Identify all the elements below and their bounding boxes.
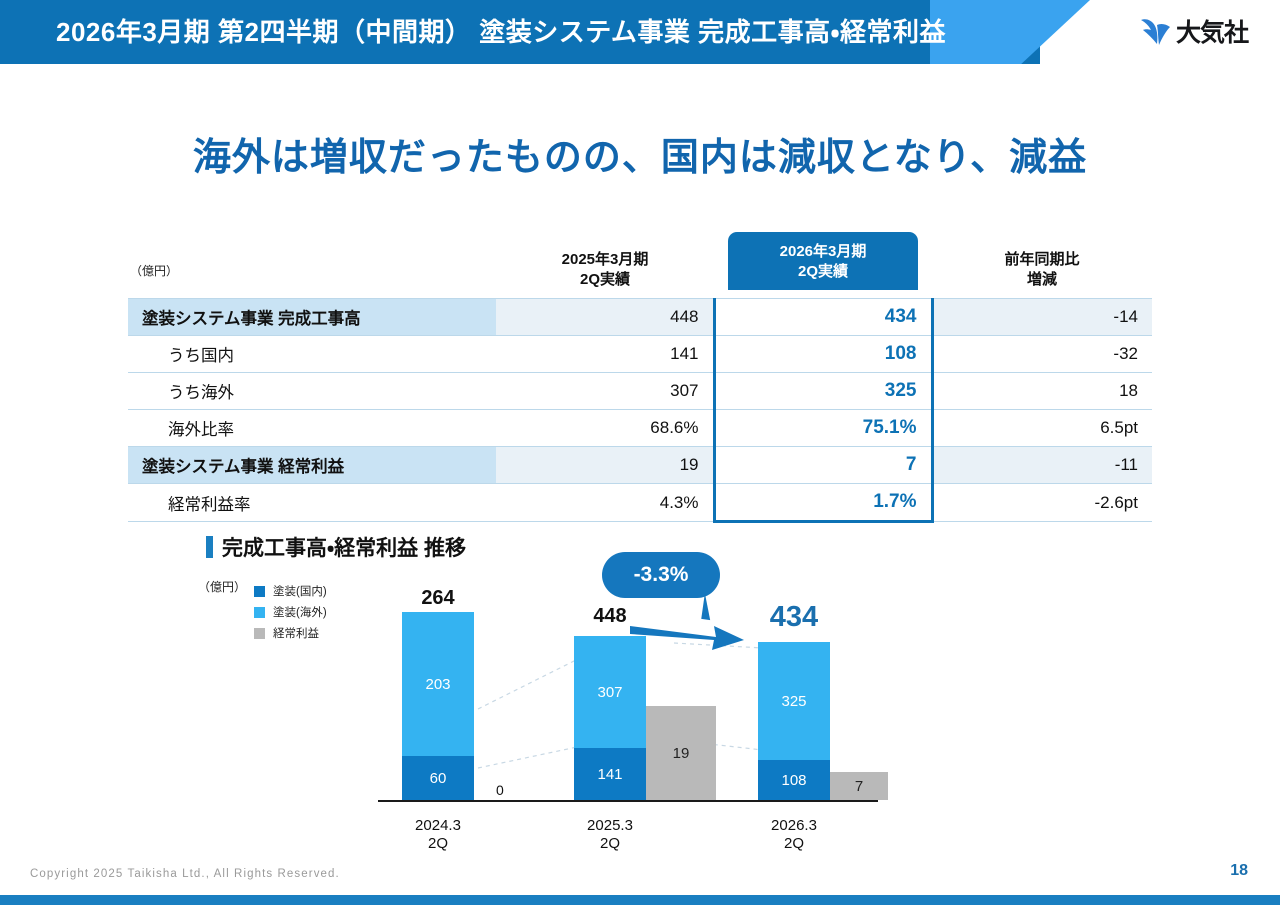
- table-header-current-year: 2026年3月期 2Q実績: [714, 228, 932, 299]
- row-prev-value: 68.6%: [496, 410, 714, 447]
- financial-table: 2025年3月期 2Q実績 2026年3月期 2Q実績 前年同期比 増減: [128, 228, 1152, 523]
- chart-title-text: 完成工事高・経常利益 推移: [222, 532, 466, 562]
- bar-total-label: 448: [574, 605, 646, 628]
- row-current-value: 108: [714, 336, 932, 373]
- table-header-yoy-change: 前年同期比 増減: [932, 228, 1152, 299]
- row-diff-value: -11: [932, 447, 1152, 484]
- headline: 海外は増収だったものの、国内は減収となり、減益: [0, 126, 1280, 181]
- bar-segment-overseas: 307: [574, 636, 646, 748]
- row-current-value: 325: [714, 373, 932, 410]
- row-label: 塗装システム事業 経常利益: [128, 447, 496, 484]
- legend-item: 経常利益: [254, 623, 327, 643]
- profit-bar-2026: 7: [830, 772, 888, 800]
- company-logo: 大気社: [1139, 14, 1248, 52]
- prev-year-line1: 2025年3月期: [562, 251, 649, 268]
- table-row: うち国内 141 108 -32: [128, 336, 1152, 373]
- current-year-line1: 2026年3月期: [780, 243, 867, 260]
- legend-swatch-overseas: [254, 607, 265, 618]
- copyright-text: Copyright 2025 Taikisha Ltd., All Rights…: [30, 868, 340, 880]
- table-row: 海外比率 68.6% 75.1% 6.5pt: [128, 410, 1152, 447]
- table-header-blank: [128, 228, 496, 299]
- chart-section-title: 完成工事高・経常利益 推移: [206, 532, 466, 562]
- row-current-value: 1.7%: [714, 484, 932, 522]
- current-year-line2: 2Q実績: [798, 263, 848, 280]
- row-diff-value: 6.5pt: [932, 410, 1152, 447]
- row-label: うち海外: [128, 373, 496, 410]
- bar-total-label: 264: [402, 587, 474, 610]
- table-row: 塗装システム事業 経常利益 19 7 -11: [128, 447, 1152, 484]
- logo-text: 大気社: [1176, 21, 1248, 46]
- row-current-value: 75.1%: [714, 410, 932, 447]
- row-label: 海外比率: [128, 410, 496, 447]
- legend-label: 経常利益: [273, 625, 319, 641]
- bar-segment-overseas: 203: [402, 612, 474, 756]
- bar-segment-domestic: 60: [402, 756, 474, 800]
- header-accent-shape: [930, 0, 1090, 64]
- taikisha-v-mark-icon: [1139, 17, 1173, 49]
- chart-section: 完成工事高・経常利益 推移 （億円） 塗装(国内) 塗装(海外) 経常利益 -3…: [128, 524, 1152, 874]
- yoy-line2: 増減: [1027, 271, 1057, 288]
- x-label-line2: 2Q: [428, 835, 448, 852]
- row-diff-value: -2.6pt: [932, 484, 1152, 522]
- callout-bubble-tail: [701, 593, 718, 621]
- bar-segment-domestic: 141: [574, 748, 646, 800]
- x-axis-label-2025: 2025.3 2Q: [562, 817, 658, 855]
- prev-year-line2: 2Q実績: [580, 271, 630, 288]
- row-prev-value: 19: [496, 447, 714, 484]
- trend-arrow-icon: [628, 620, 748, 654]
- table-body: 塗装システム事業 完成工事高 448 434 -14 うち国内 141 108 …: [128, 299, 1152, 522]
- table-header-row: 2025年3月期 2Q実績 2026年3月期 2Q実績 前年同期比 増減: [128, 228, 1152, 299]
- legend-item: 塗装(海外): [254, 602, 327, 622]
- chart-x-axis: [378, 800, 878, 802]
- row-prev-value: 141: [496, 336, 714, 373]
- table-header-prev-year: 2025年3月期 2Q実績: [496, 228, 714, 299]
- x-label-line1: 2024.3: [415, 817, 461, 834]
- table-row: うち海外 307 325 18: [128, 373, 1152, 410]
- page-number: 18: [1230, 862, 1248, 880]
- row-prev-value: 307: [496, 373, 714, 410]
- row-current-value: 7: [714, 447, 932, 484]
- bar-segment-domestic: 108: [758, 760, 830, 800]
- row-current-value: 434: [714, 299, 932, 336]
- financial-table-wrapper: （億円） 2025年3月期 2Q実績 2026年3月期 2Q実績: [128, 228, 1152, 523]
- profit-bar-2025: 19: [646, 706, 716, 800]
- yoy-line1: 前年同期比: [1004, 251, 1079, 268]
- legend-label: 塗装(国内): [273, 583, 327, 599]
- chart-unit-note: （億円）: [198, 578, 246, 595]
- x-label-line2: 2Q: [784, 835, 804, 852]
- bar-segment-overseas: 325: [758, 642, 830, 760]
- legend-label: 塗装(海外): [273, 604, 327, 620]
- profit-zero-label: 0: [496, 782, 504, 798]
- chart-legend: 塗装(国内) 塗装(海外) 経常利益: [254, 581, 327, 644]
- x-label-line1: 2025.3: [587, 817, 633, 834]
- row-diff-value: -14: [932, 299, 1152, 336]
- legend-swatch-profit: [254, 628, 265, 639]
- chart-plot-area: -3.3% 264 203 60 0 2024.3 2Q 448 307 141…: [378, 564, 898, 856]
- legend-item: 塗装(国内): [254, 581, 327, 601]
- row-prev-value: 448: [496, 299, 714, 336]
- callout-text: -3.3%: [634, 563, 689, 587]
- legend-swatch-domestic: [254, 586, 265, 597]
- row-label: うち国内: [128, 336, 496, 373]
- bar-total-label: 434: [754, 601, 834, 634]
- header-title: 2026年3月期 第2四半期（中間期） 塗装システム事業 完成工事高・経常利益: [56, 0, 946, 64]
- x-label-line2: 2Q: [600, 835, 620, 852]
- row-label: 経常利益率: [128, 484, 496, 522]
- table-unit-note: （億円）: [130, 262, 178, 279]
- section-marker-icon: [206, 536, 213, 558]
- stacked-bar-2024: 203 60: [402, 612, 474, 800]
- slide-header: 2026年3月期 第2四半期（中間期） 塗装システム事業 完成工事高・経常利益 …: [0, 0, 1280, 64]
- table-row: 経常利益率 4.3% 1.7% -2.6pt: [128, 484, 1152, 522]
- stacked-bar-2025: 307 141: [574, 636, 646, 800]
- x-axis-label-2024: 2024.3 2Q: [390, 817, 486, 855]
- stacked-bar-2026: 325 108: [758, 642, 830, 800]
- row-prev-value: 4.3%: [496, 484, 714, 522]
- table-row: 塗装システム事業 完成工事高 448 434 -14: [128, 299, 1152, 336]
- row-diff-value: -32: [932, 336, 1152, 373]
- row-label: 塗装システム事業 完成工事高: [128, 299, 496, 336]
- row-diff-value: 18: [932, 373, 1152, 410]
- footer-bar: [0, 895, 1280, 905]
- x-label-line1: 2026.3: [771, 817, 817, 834]
- x-axis-label-2026: 2026.3 2Q: [746, 817, 842, 855]
- callout-bubble: -3.3%: [602, 552, 720, 598]
